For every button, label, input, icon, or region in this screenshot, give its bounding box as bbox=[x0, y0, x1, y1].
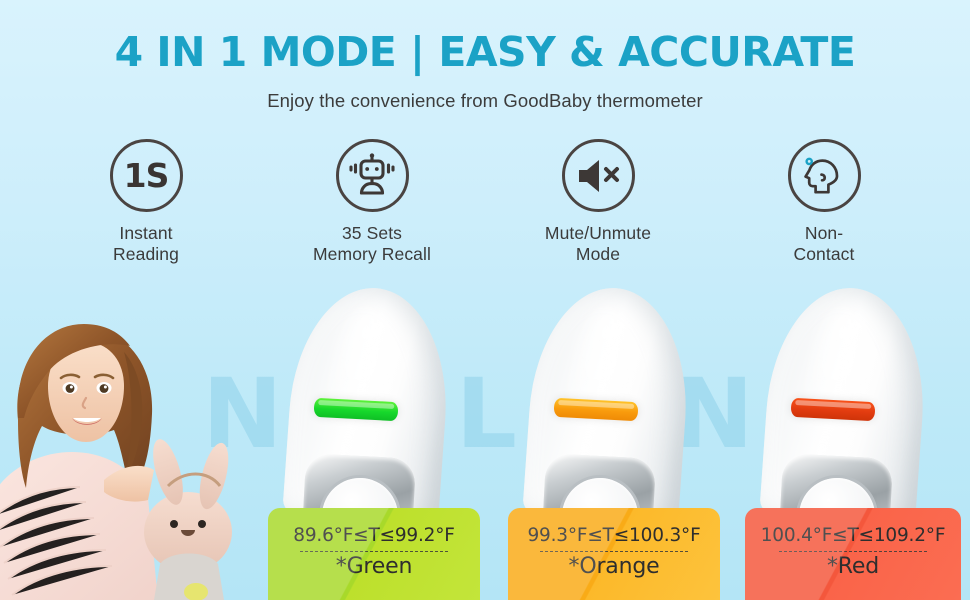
divider bbox=[540, 551, 688, 552]
feature-non-contact: Non- Contact bbox=[739, 139, 909, 266]
body-highlight bbox=[561, 308, 632, 464]
header: 4 IN 1 MODE | EASY & ACCURATE Enjoy the … bbox=[0, 0, 970, 112]
divider bbox=[779, 551, 927, 552]
feature-list: 1S Instant Reading 35 Sets Memory Recall bbox=[0, 139, 970, 266]
title-divider: | bbox=[410, 28, 424, 76]
feature-caption-line-1: Non- bbox=[739, 223, 909, 244]
feature-caption: Instant Reading bbox=[61, 223, 231, 266]
feature-caption-line-1: Instant bbox=[61, 223, 231, 244]
speaker-mute-icon bbox=[562, 139, 635, 212]
feature-caption-line-2: Reading bbox=[61, 244, 231, 265]
feature-caption: Mute/Unmute Mode bbox=[513, 223, 683, 266]
feature-caption: Non- Contact bbox=[739, 223, 909, 266]
thermometer-green: SCAN bbox=[268, 288, 468, 538]
feature-caption-line-1: 35 Sets bbox=[287, 223, 457, 244]
thermometer-orange: SCAN bbox=[508, 288, 708, 538]
page-subtitle: Enjoy the convenience from GoodBaby ther… bbox=[0, 90, 970, 112]
page-title: 4 IN 1 MODE | EASY & ACCURATE bbox=[0, 32, 970, 73]
body-highlight bbox=[321, 308, 392, 464]
range-card-orange: 99.3°F≤T≤100.3°F *Orange bbox=[508, 508, 720, 600]
title-part-two: EASY & ACCURATE bbox=[438, 28, 855, 76]
title-part-one: 4 IN 1 MODE bbox=[115, 28, 397, 76]
feature-caption-line-2: Mode bbox=[513, 244, 683, 265]
range-text: 99.3°F≤T≤100.3°F bbox=[508, 525, 720, 546]
divider bbox=[300, 551, 448, 552]
feature-instant-reading: 1S Instant Reading bbox=[61, 139, 231, 266]
thermometer-red: SCAN bbox=[745, 288, 945, 538]
range-card-green: 89.6°F≤T≤99.2°F *Green bbox=[268, 508, 480, 600]
feature-caption: 35 Sets Memory Recall bbox=[287, 223, 457, 266]
status-label: *Red bbox=[745, 554, 961, 579]
temperature-range-cards: 89.6°F≤T≤99.2°F *Green 99.3°F≤T≤100.3°F … bbox=[0, 508, 970, 600]
range-text: 89.6°F≤T≤99.2°F bbox=[268, 525, 480, 546]
robot-memory-icon bbox=[336, 139, 409, 212]
status-label: *Green bbox=[268, 554, 480, 579]
one-second-icon: 1S bbox=[110, 139, 183, 212]
body-highlight bbox=[798, 308, 869, 464]
range-text: 100.4°F≤T≤109.2°F bbox=[745, 525, 961, 546]
one-second-badge-label: 1S bbox=[124, 159, 169, 192]
status-label: *Orange bbox=[508, 554, 720, 579]
head-profile-icon bbox=[788, 139, 861, 212]
feature-caption-line-2: Memory Recall bbox=[287, 244, 457, 265]
feature-mute-mode: Mute/Unmute Mode bbox=[513, 139, 683, 266]
range-card-red: 100.4°F≤T≤109.2°F *Red bbox=[745, 508, 961, 600]
feature-caption-line-1: Mute/Unmute bbox=[513, 223, 683, 244]
feature-memory-recall: 35 Sets Memory Recall bbox=[287, 139, 457, 266]
feature-caption-line-2: Contact bbox=[739, 244, 909, 265]
